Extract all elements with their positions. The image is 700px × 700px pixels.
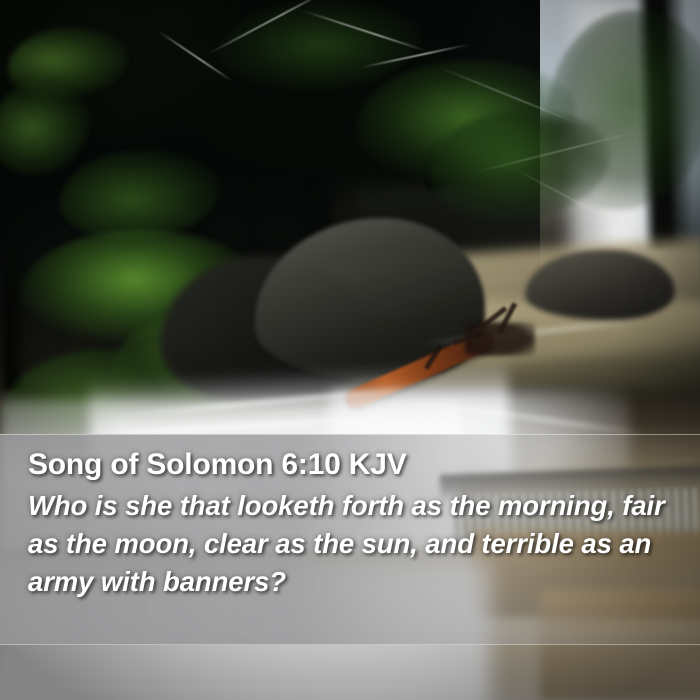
verse-overlay-band: Song of Solomon 6:10 KJV Who is she that… <box>0 434 700 645</box>
scripture-image-card: Song of Solomon 6:10 KJV Who is she that… <box>0 0 700 700</box>
verse-body-text: Who is she that looketh forth as the mor… <box>28 487 682 601</box>
verse-reference: Song of Solomon 6:10 KJV <box>28 447 682 483</box>
